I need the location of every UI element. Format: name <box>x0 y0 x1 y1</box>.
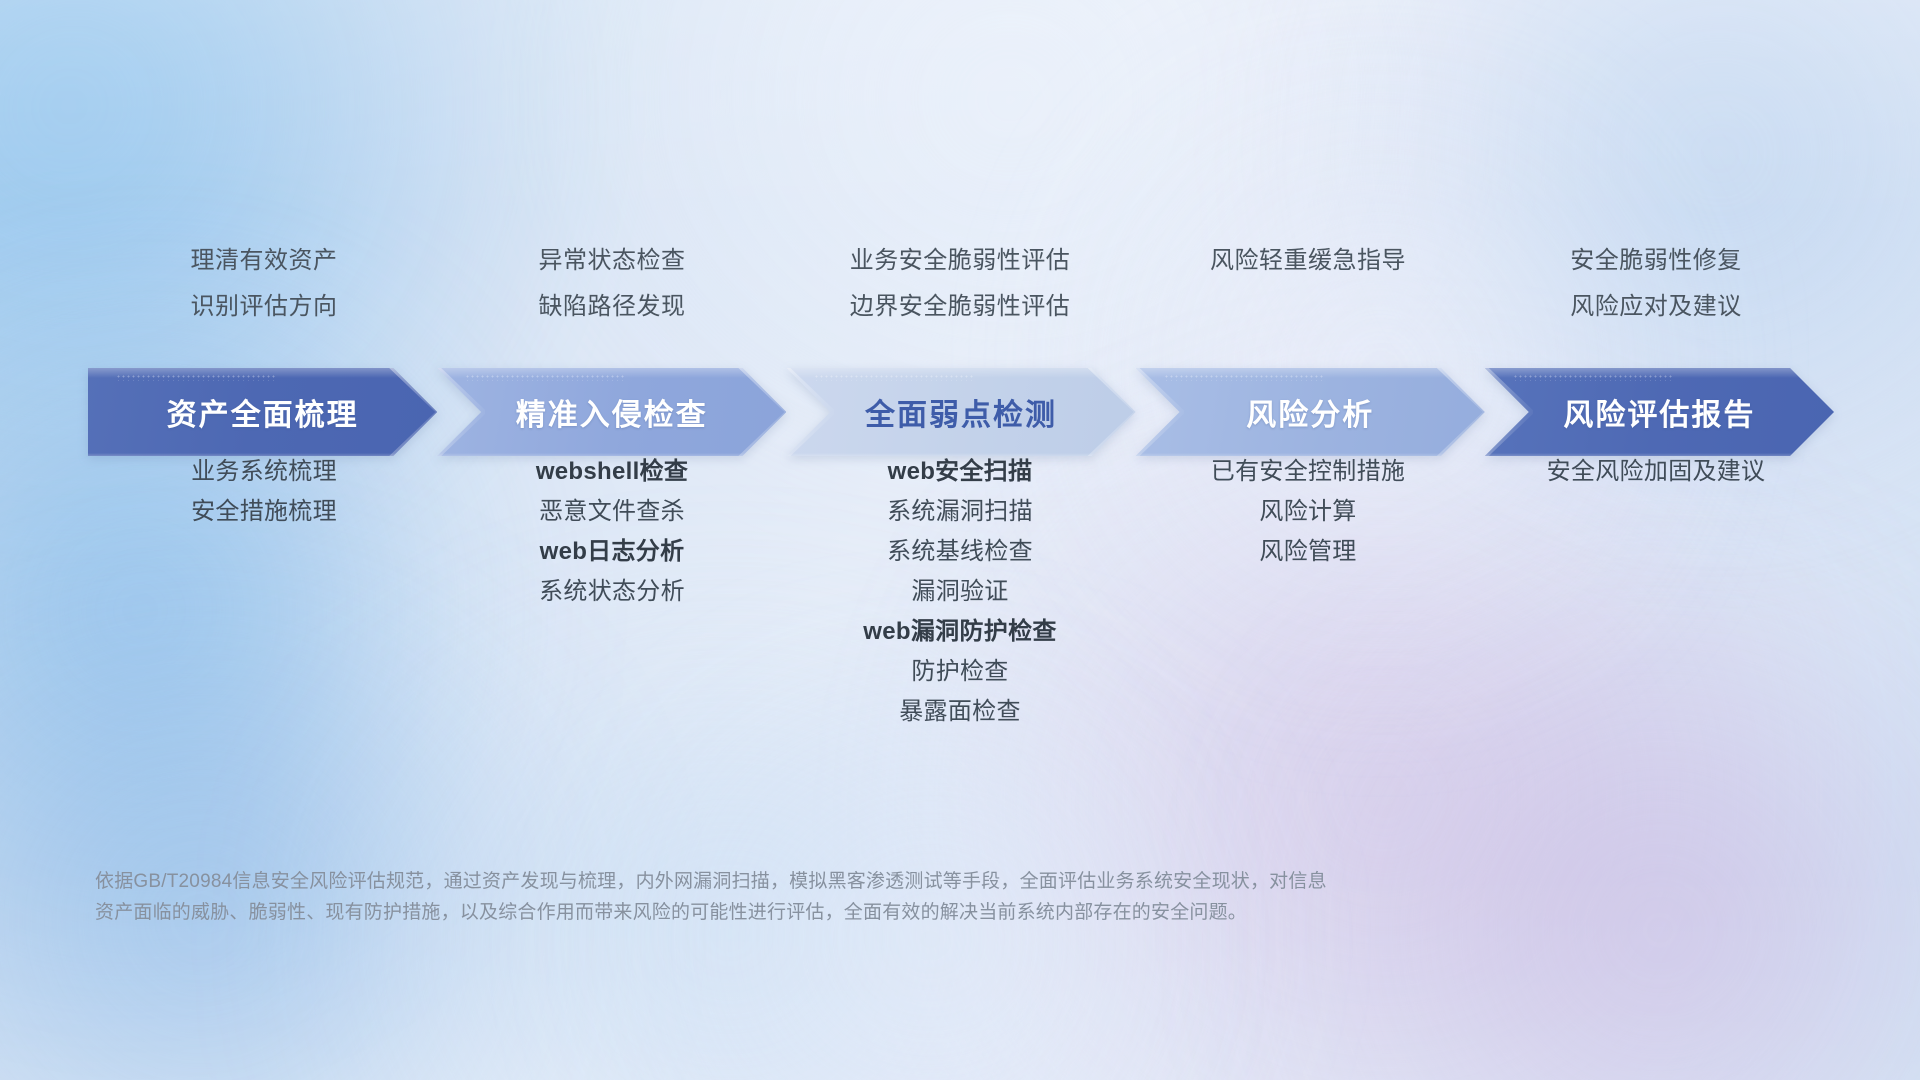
chevron-step-label: 风险分析 <box>1246 390 1374 434</box>
chevron-step-intrusion-check[interactable]: 精准入侵检查 <box>437 368 786 456</box>
diagram-root: 理清有效资产 识别评估方向 异常状态检查 缺陷路径发现 业务安全脆弱性评估 边界… <box>0 0 1920 1080</box>
list-item: 系统漏洞扫描 <box>786 492 1134 532</box>
chevron-step-risk-report[interactable]: 风险评估报告 <box>1485 368 1834 456</box>
list-item: webshell检查 <box>438 452 786 492</box>
list-item: 系统状态分析 <box>438 572 786 612</box>
process-chevron-band: 资产全面梳理 精准入侵检查 全面弱点检测 <box>88 368 1834 456</box>
detail-column-risk-report: 安全风险加固及建议 <box>1482 452 1830 492</box>
list-item: 安全风险加固及建议 <box>1482 452 1830 492</box>
top-line: 理清有效资产 <box>90 238 438 284</box>
top-column-risk-report: 安全脆弱性修复 风险应对及建议 <box>1482 238 1830 330</box>
top-column-risk-analysis: 风险轻重缓急指导 <box>1134 238 1482 330</box>
chevron-step-asset-inventory[interactable]: 资产全面梳理 <box>88 368 437 456</box>
list-item: 系统基线检查 <box>786 532 1134 572</box>
top-line: 边界安全脆弱性评估 <box>786 284 1134 330</box>
footer-line-2: 资产面临的威胁、脆弱性、现有防护措施，以及综合作用而带来风险的可能性进行评估，全… <box>95 897 1615 928</box>
list-item: 安全措施梳理 <box>90 492 438 532</box>
list-item: 业务系统梳理 <box>90 452 438 492</box>
list-item: web安全扫描 <box>786 452 1134 492</box>
top-column-weakness-detection: 业务安全脆弱性评估 边界安全脆弱性评估 <box>786 238 1134 330</box>
top-line: 风险应对及建议 <box>1482 284 1830 330</box>
top-line: 异常状态检查 <box>438 238 786 284</box>
chevron-label-wrap: 精准入侵检查 <box>437 368 786 456</box>
top-column-intrusion-check: 异常状态检查 缺陷路径发现 <box>438 238 786 330</box>
bottom-detail-row: 业务系统梳理 安全措施梳理 webshell检查 恶意文件查杀 web日志分析 … <box>90 452 1830 732</box>
chevron-step-label: 精准入侵检查 <box>516 390 708 434</box>
top-line: 安全脆弱性修复 <box>1482 238 1830 284</box>
top-descriptor-row: 理清有效资产 识别评估方向 异常状态检查 缺陷路径发现 业务安全脆弱性评估 边界… <box>90 238 1830 330</box>
detail-column-risk-analysis: 已有安全控制措施 风险计算 风险管理 <box>1134 452 1482 572</box>
list-item: 暴露面检查 <box>786 692 1134 732</box>
detail-column-intrusion-check: webshell检查 恶意文件查杀 web日志分析 系统状态分析 <box>438 452 786 612</box>
chevron-step-weakness-detection[interactable]: 全面弱点检测 <box>786 368 1135 456</box>
list-item: 已有安全控制措施 <box>1134 452 1482 492</box>
list-item: 风险管理 <box>1134 532 1482 572</box>
footer-line-1: 依据GB/T20984信息安全风险评估规范，通过资产发现与梳理，内外网漏洞扫描，… <box>95 866 1615 897</box>
footer-description: 依据GB/T20984信息安全风险评估规范，通过资产发现与梳理，内外网漏洞扫描，… <box>95 866 1615 928</box>
list-item: 风险计算 <box>1134 492 1482 532</box>
top-line: 识别评估方向 <box>90 284 438 330</box>
chevron-label-wrap: 风险分析 <box>1136 368 1485 456</box>
list-item: 漏洞验证 <box>786 572 1134 612</box>
chevron-label-wrap: 资产全面梳理 <box>88 368 437 456</box>
list-item: 恶意文件查杀 <box>438 492 786 532</box>
detail-column-weakness-detection: web安全扫描 系统漏洞扫描 系统基线检查 漏洞验证 web漏洞防护检查 防护检… <box>786 452 1134 732</box>
top-line: 风险轻重缓急指导 <box>1134 238 1482 284</box>
chevron-label-wrap: 风险评估报告 <box>1485 368 1834 456</box>
chevron-step-label: 资产全面梳理 <box>167 390 359 434</box>
list-item: 防护检查 <box>786 652 1134 692</box>
top-column-asset-inventory: 理清有效资产 识别评估方向 <box>90 238 438 330</box>
top-line: 业务安全脆弱性评估 <box>786 238 1134 284</box>
chevron-label-wrap: 全面弱点检测 <box>786 368 1135 456</box>
list-item: web漏洞防护检查 <box>786 612 1134 652</box>
top-line: 缺陷路径发现 <box>438 284 786 330</box>
detail-column-asset-inventory: 业务系统梳理 安全措施梳理 <box>90 452 438 532</box>
list-item: web日志分析 <box>438 532 786 572</box>
chevron-step-risk-analysis[interactable]: 风险分析 <box>1136 368 1485 456</box>
chevron-step-label: 全面弱点检测 <box>865 390 1057 434</box>
chevron-step-label: 风险评估报告 <box>1563 390 1755 434</box>
